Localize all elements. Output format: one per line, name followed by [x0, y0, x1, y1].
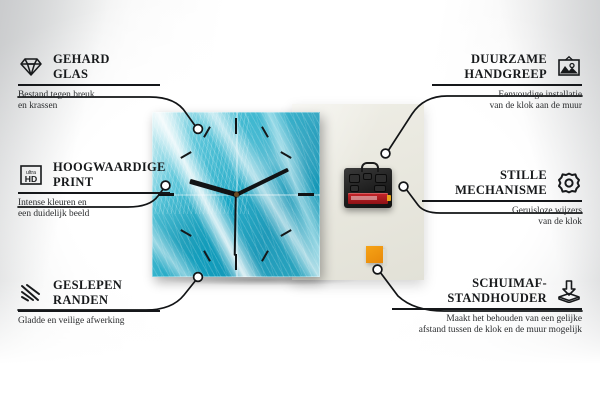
- press-down-icon: [556, 279, 582, 303]
- clock-tick: [235, 118, 237, 134]
- clock-tick: [298, 193, 314, 196]
- callout-header: GESLEPEN RANDEN: [18, 278, 168, 307]
- callout-title: GESLEPEN RANDEN: [53, 278, 122, 307]
- callout-divider: [18, 310, 160, 312]
- ultra-hd-icon: ultra HD: [18, 163, 44, 187]
- callout-divider: [392, 308, 582, 310]
- clock-tick: [235, 254, 237, 270]
- callout-header: STILLE MECHANISME: [422, 168, 582, 197]
- callout-hoogwaardige-print: ultra HD HOOGWAARDIGE PRINT Intense kleu…: [18, 160, 178, 220]
- diamond-icon: [18, 55, 44, 79]
- callout-divider: [422, 200, 582, 202]
- callout-description: Maakt het behouden van een gelijke afsta…: [392, 314, 582, 337]
- callout-title: DUURZAME HANDGREEP: [464, 52, 547, 81]
- movement-detail: [349, 174, 360, 183]
- clock-movement: [344, 168, 392, 208]
- foam-spacer-pad: [366, 246, 383, 263]
- callout-title: SCHUIMAF- STANDHOUDER: [447, 276, 547, 305]
- movement-detail: [363, 173, 372, 180]
- callout-header: ultra HD HOOGWAARDIGE PRINT: [18, 160, 178, 189]
- callout-divider: [18, 84, 160, 86]
- battery-label: [351, 196, 377, 200]
- callout-header: GEHARD GLAS: [18, 52, 168, 81]
- gear-icon: [556, 171, 582, 195]
- callout-schuimaf-standhouder: SCHUIMAF- STANDHOUDER Maakt het behouden…: [392, 276, 582, 336]
- movement-battery: [348, 193, 388, 204]
- callout-description: Gladde en veilige afwerking: [18, 316, 168, 327]
- movement-detail: [374, 185, 386, 192]
- callout-gehard-glas: GEHARD GLAS Bestand tegen breuk en krass…: [18, 52, 168, 112]
- callout-header: SCHUIMAF- STANDHOUDER: [392, 276, 582, 305]
- callout-geslepen-randen: GESLEPEN RANDEN Gladde en veilige afwerk…: [18, 278, 168, 327]
- clock-hands-hub: [234, 192, 239, 197]
- diagonal-lines-icon: [18, 281, 44, 305]
- callout-description: Intense kleuren en een duidelijk beeld: [18, 198, 178, 221]
- infographic-canvas: GEHARD GLAS Bestand tegen breuk en krass…: [0, 0, 600, 400]
- movement-detail: [375, 174, 387, 183]
- callout-title: HOOGWAARDIGE PRINT: [53, 160, 166, 189]
- framed-picture-icon: [556, 55, 582, 79]
- callout-duurzame-handgreep: DUURZAME HANDGREEP Eenvoudige installati…: [432, 52, 582, 112]
- callout-stille-mechanisme: STILLE MECHANISME Geruisloze wijzers van…: [422, 168, 582, 228]
- callout-title: STILLE MECHANISME: [455, 168, 547, 197]
- callout-description: Geruisloze wijzers van de klok: [422, 206, 582, 229]
- movement-hanger-icon: [361, 162, 379, 172]
- callout-divider: [18, 192, 170, 194]
- callout-description: Eenvoudige installatie van de klok aan d…: [432, 90, 582, 113]
- svg-text:HD: HD: [25, 174, 37, 184]
- callout-description: Bestand tegen breuk en krassen: [18, 90, 168, 113]
- callout-title: GEHARD GLAS: [53, 52, 110, 81]
- callout-divider: [432, 84, 582, 86]
- callout-header: DUURZAME HANDGREEP: [432, 52, 582, 81]
- movement-detail: [350, 185, 359, 192]
